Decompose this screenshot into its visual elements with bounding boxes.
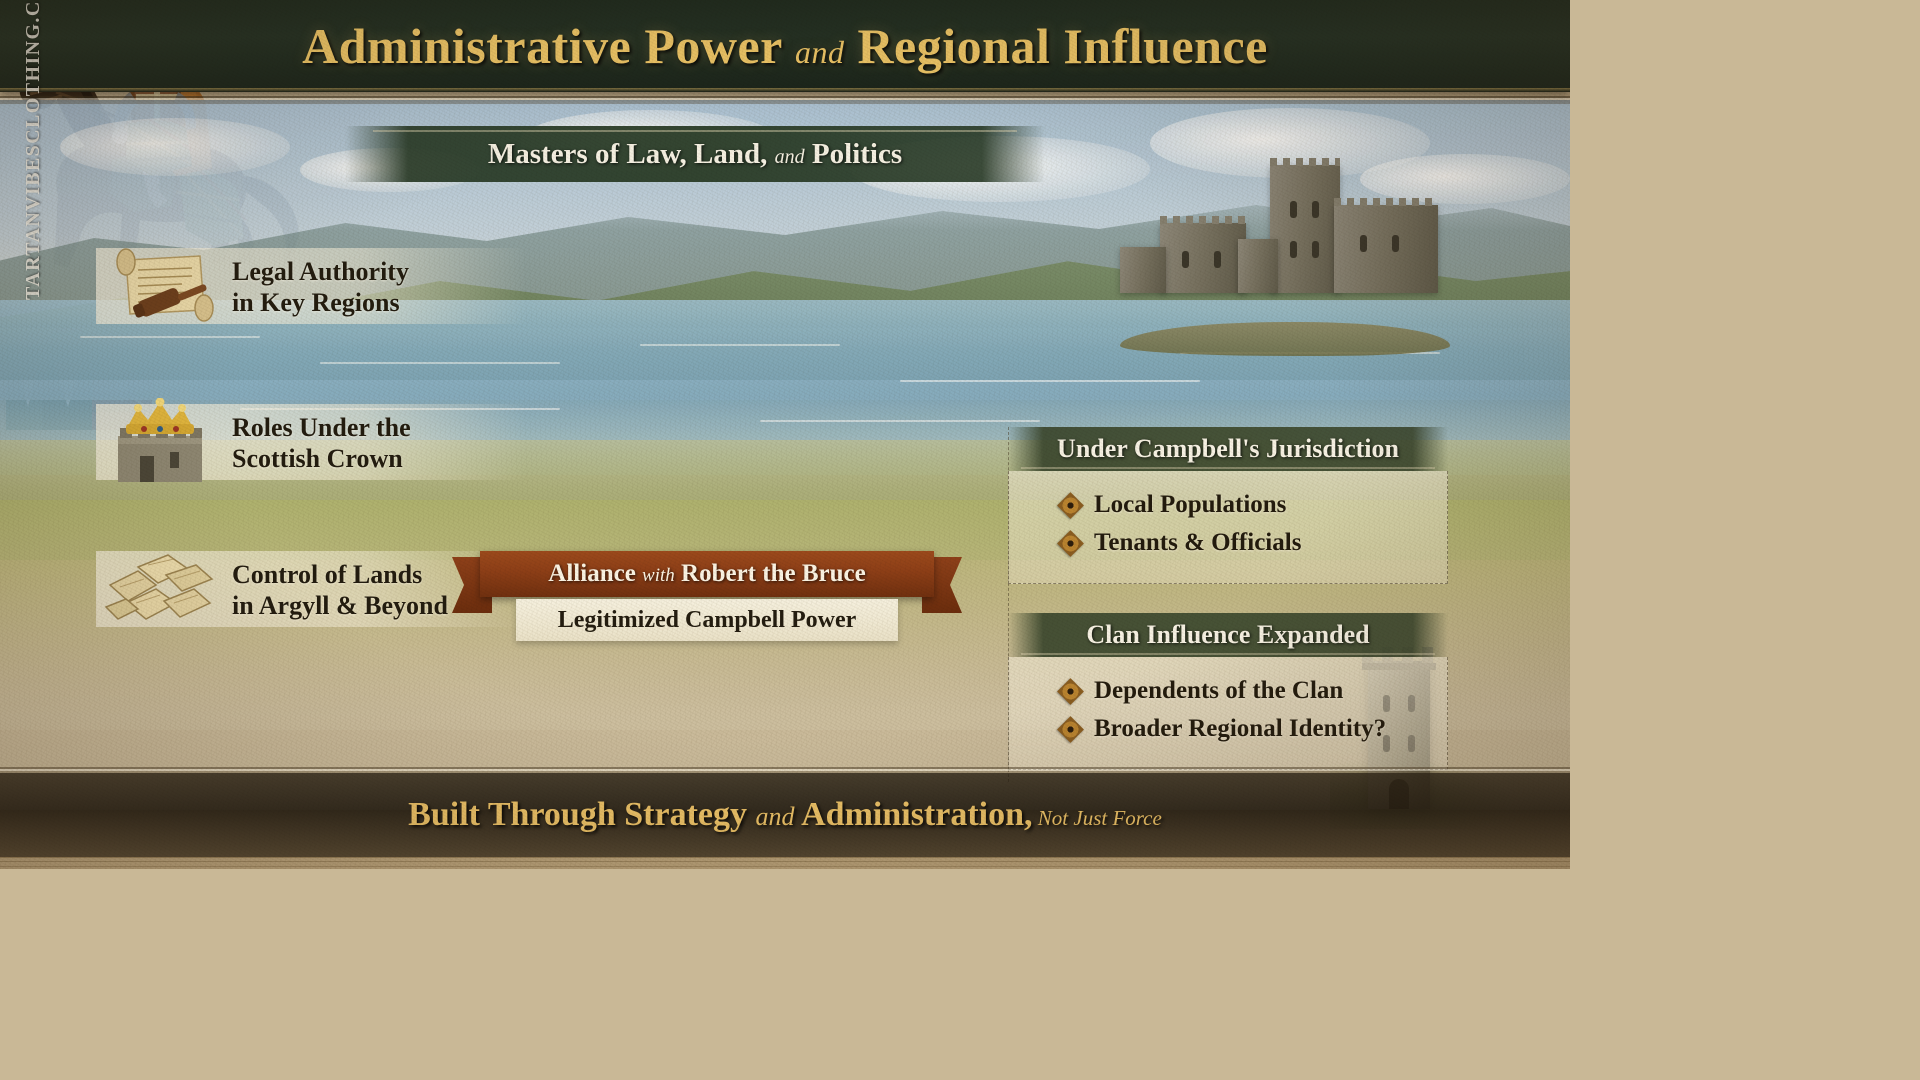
- left-item-line-1: Control of Lands: [232, 560, 448, 590]
- subtitle-part-2: Politics: [805, 138, 902, 170]
- title-part-2: Regional Influence: [844, 18, 1267, 74]
- left-item-control-of-lands[interactable]: Control of Lands in Argyll & Beyond: [104, 545, 448, 636]
- diamond-bullet-icon: [1057, 716, 1084, 743]
- crown-castle-icon: [104, 398, 216, 489]
- footer-part-2: Administration,: [794, 796, 1032, 833]
- scroll-gavel-icon: [104, 242, 216, 333]
- alliance-subtext: Legitimized Campbell Power: [558, 607, 857, 634]
- alliance-subtext-banner: Legitimized Campbell Power: [516, 599, 898, 641]
- panel-heading-influence: Clan Influence Expanded: [1008, 613, 1448, 657]
- left-item-line-1: Roles Under the: [232, 413, 411, 443]
- panel-under-campbells-jurisdiction[interactable]: Under Campbell's Jurisdiction Local Popu…: [1008, 427, 1448, 584]
- panel-heading-jurisdiction: Under Campbell's Jurisdiction: [1008, 427, 1448, 471]
- title-part-1: Administrative Power: [302, 18, 795, 74]
- left-item-line-1: Legal Authority: [232, 257, 409, 287]
- title-conjunction: and: [795, 34, 845, 70]
- footer-part-1: Built Through Strategy: [408, 796, 755, 833]
- panel-heading-text: Under Campbell's Jurisdiction: [1057, 434, 1399, 464]
- footer-conjunction: and: [755, 802, 794, 831]
- panel-body-jurisdiction: Local Populations Tenants & Officials: [1008, 471, 1448, 584]
- panel-clan-influence-expanded[interactable]: Clan Influence Expanded Dependents of th…: [1008, 613, 1448, 770]
- land-parcels-icon: [104, 545, 216, 636]
- left-item-line-2: in Argyll & Beyond: [232, 591, 448, 621]
- subtitle-text: Masters of Law, Land, and Politics: [488, 138, 902, 171]
- ribbon-part-2: Robert the Bruce: [675, 560, 866, 587]
- list-item-label: Broader Regional Identity?: [1094, 715, 1386, 743]
- list-item-label: Tenants & Officials: [1094, 529, 1301, 557]
- header-banner: Administrative Power and Regional Influe…: [0, 0, 1570, 92]
- list-item-label: Local Populations: [1094, 491, 1286, 519]
- diamond-bullet-icon: [1057, 530, 1084, 557]
- alliance-ribbon: Alliance with Robert the Bruce: [480, 551, 934, 597]
- panel-heading-text: Clan Influence Expanded: [1086, 620, 1369, 650]
- list-item[interactable]: Dependents of the Clan: [1061, 677, 1429, 705]
- header-divider-rule: [0, 96, 1570, 104]
- list-item[interactable]: Tenants & Officials: [1061, 529, 1429, 557]
- panel-body-influence: Dependents of the Clan Broader Regional …: [1008, 657, 1448, 770]
- diamond-bullet-icon: [1057, 678, 1084, 705]
- left-item-line-2: Scottish Crown: [232, 444, 411, 474]
- diamond-bullet-icon: [1057, 492, 1084, 519]
- bottom-decorative-rules: [0, 857, 1570, 869]
- ribbon-part-1: Alliance: [548, 560, 642, 587]
- footer-tail: Not Just Force: [1033, 806, 1162, 830]
- left-item-label-2: Roles Under the Scottish Crown: [232, 413, 411, 473]
- subtitle-part-1: Masters of Law, Land,: [488, 138, 775, 170]
- alliance-ribbon-text: Alliance with Robert the Bruce: [548, 560, 865, 588]
- ribbon-preposition: with: [642, 565, 675, 586]
- list-item[interactable]: Local Populations: [1061, 491, 1429, 519]
- left-item-scottish-crown[interactable]: Roles Under the Scottish Crown: [104, 398, 411, 489]
- left-item-label-1: Legal Authority in Key Regions: [232, 257, 409, 317]
- subtitle-banner: Masters of Law, Land, and Politics: [345, 126, 1045, 182]
- alliance-ribbon-group: Alliance with Robert the Bruce Legitimiz…: [452, 551, 962, 651]
- list-item-label: Dependents of the Clan: [1094, 677, 1343, 705]
- list-item[interactable]: Broader Regional Identity?: [1061, 715, 1429, 743]
- left-item-legal-authority[interactable]: Legal Authority in Key Regions: [104, 242, 409, 333]
- footer-banner: Built Through Strategy and Administratio…: [0, 773, 1570, 857]
- page-title: Administrative Power and Regional Influe…: [302, 17, 1268, 75]
- left-item-label-3: Control of Lands in Argyll & Beyond: [232, 560, 448, 620]
- site-watermark: TARTANVIBESCLOTHING.COM: [22, 0, 45, 300]
- subtitle-conjunction: and: [775, 146, 805, 168]
- castle-illustration: [1120, 165, 1450, 340]
- infographic-canvas: Administrative Power and Regional Influe…: [0, 0, 1570, 869]
- footer-text: Built Through Strategy and Administratio…: [408, 796, 1162, 834]
- left-item-line-2: in Key Regions: [232, 288, 409, 318]
